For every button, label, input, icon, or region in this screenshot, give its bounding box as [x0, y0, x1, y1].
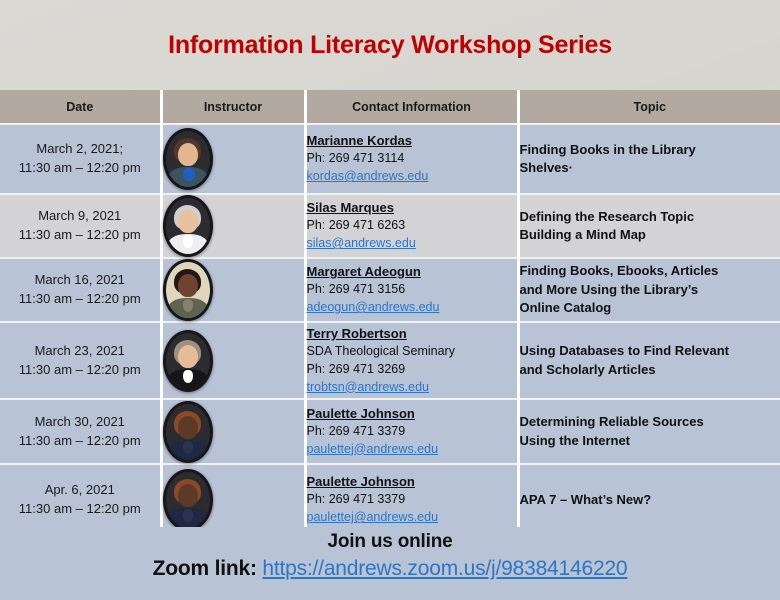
- contact-name: Marianne Kordas: [307, 132, 517, 150]
- date-line-2: 11:30 am – 12:20 pm: [0, 432, 160, 451]
- cell-instructor: [161, 322, 305, 399]
- avatar: [163, 469, 213, 531]
- cell-contact-information: Marianne Kordas Ph: 269 471 3114 kordas@…: [305, 124, 518, 194]
- topic-line-1: Finding Books in the Library: [520, 142, 696, 157]
- contact-email-link[interactable]: silas@andrews.edu: [307, 235, 517, 253]
- cell-date: March 16, 2021 11:30 am – 12:20 pm: [0, 258, 161, 322]
- cell-instructor: [161, 464, 305, 536]
- cell-instructor: [161, 194, 305, 258]
- contact-name: Terry Robertson: [307, 325, 517, 343]
- portrait-face: [178, 345, 198, 368]
- avatar: [163, 330, 213, 392]
- date-line-1: March 30, 2021: [0, 413, 160, 432]
- portrait-collar: [183, 441, 193, 454]
- cell-contact-information: Paulette Johnson Ph: 269 471 3379 paulet…: [305, 399, 518, 464]
- portrait-face: [178, 274, 198, 297]
- contact-email-link[interactable]: kordas@andrews.edu: [307, 168, 517, 186]
- portrait-face: [178, 416, 198, 439]
- table-row: March 2, 2021; 11:30 am – 12:20 pm Maria…: [0, 124, 780, 194]
- cell-topic: Finding Books, Ebooks, Articles and More…: [518, 258, 780, 322]
- column-header-date: Date: [0, 90, 161, 124]
- portrait-face: [178, 210, 198, 233]
- topic-line-1: Finding Books, Ebooks, Articles: [520, 263, 719, 278]
- table-row: March 30, 2021 11:30 am – 12:20 pm Paule…: [0, 399, 780, 464]
- contact-phone: Ph: 269 471 3379: [307, 491, 517, 509]
- date-line-2: 11:30 am – 12:20 pm: [0, 500, 160, 519]
- date-line-1: March 2, 2021;: [0, 140, 160, 159]
- date-line-1: March 23, 2021: [0, 342, 160, 361]
- contact-email-link[interactable]: trobtsn@andrews.edu: [307, 379, 517, 397]
- date-line-2: 11:30 am – 12:20 pm: [0, 290, 160, 309]
- footer-band: Join us online Zoom link: https://andrew…: [0, 527, 780, 600]
- table-header-row: Date Instructor Contact Information Topi…: [0, 90, 780, 124]
- cell-contact-information: Terry Robertson SDA Theological Seminary…: [305, 322, 518, 399]
- portrait-face: [178, 143, 198, 166]
- zoom-meeting-url[interactable]: https://andrews.zoom.us/j/98384146220: [262, 557, 627, 580]
- poster-page: Information Literacy Workshop Series Dat…: [0, 0, 780, 600]
- page-title: Information Literacy Workshop Series: [168, 31, 612, 60]
- cell-contact-information: Paulette Johnson Ph: 269 471 3379 paulet…: [305, 464, 518, 536]
- contact-phone: Ph: 269 471 3269: [307, 361, 517, 379]
- topic-line-2: Shelves·: [520, 160, 573, 175]
- topic-line-1: Determining Reliable Sources: [520, 414, 704, 429]
- zoom-link-label: Zoom link:: [153, 557, 257, 580]
- topic-line-1: APA 7 – What’s New?: [520, 492, 652, 507]
- cell-topic: Using Databases to Find Relevant and Sch…: [518, 322, 780, 399]
- topic-line-2: and More Using the Library’s: [520, 282, 699, 297]
- table-header: Date Instructor Contact Information Topi…: [0, 90, 780, 124]
- cell-date: March 9, 2021 11:30 am – 12:20 pm: [0, 194, 161, 258]
- cell-date: Apr. 6, 2021 11:30 am – 12:20 pm: [0, 464, 161, 536]
- topic-line-2: Using the Internet: [520, 433, 631, 448]
- cell-topic: Defining the Research Topic Building a M…: [518, 194, 780, 258]
- date-line-1: March 16, 2021: [0, 271, 160, 290]
- portrait-collar: [183, 235, 193, 248]
- date-line-2: 11:30 am – 12:20 pm: [0, 361, 160, 380]
- cell-topic: Determining Reliable Sources Using the I…: [518, 399, 780, 464]
- contact-phone: Ph: 269 471 3156: [307, 281, 517, 299]
- portrait-collar: [183, 299, 193, 312]
- cell-topic: Finding Books in the Library Shelves·: [518, 124, 780, 194]
- zoom-link-line: Zoom link: https://andrews.zoom.us/j/983…: [0, 557, 780, 581]
- workshop-schedule-table: Date Instructor Contact Information Topi…: [0, 90, 780, 537]
- table-row: March 16, 2021 11:30 am – 12:20 pm Marga…: [0, 258, 780, 322]
- cell-date: March 23, 2021 11:30 am – 12:20 pm: [0, 322, 161, 399]
- date-line-1: March 9, 2021: [0, 207, 160, 226]
- cell-contact-information: Silas Marques Ph: 269 471 6263 silas@and…: [305, 194, 518, 258]
- contact-name: Paulette Johnson: [307, 405, 517, 423]
- contact-name: Margaret Adeogun: [307, 263, 517, 281]
- cell-date: March 2, 2021; 11:30 am – 12:20 pm: [0, 124, 161, 194]
- topic-line-1: Using Databases to Find Relevant: [520, 343, 730, 358]
- portrait-face: [178, 484, 198, 507]
- portrait-collar: [183, 370, 193, 383]
- contact-phone: Ph: 269 471 3114: [307, 150, 517, 168]
- avatar: [163, 259, 213, 321]
- contact-email-link[interactable]: paulettej@andrews.edu: [307, 441, 517, 459]
- contact-organization: SDA Theological Seminary: [307, 343, 517, 361]
- column-header-instructor: Instructor: [161, 90, 305, 124]
- contact-email-link[interactable]: adeogun@andrews.edu: [307, 299, 517, 317]
- contact-name: Silas Marques: [307, 199, 517, 217]
- topic-line-1: Defining the Research Topic: [520, 209, 695, 224]
- join-us-text: Join us online: [0, 531, 780, 553]
- table-body: March 2, 2021; 11:30 am – 12:20 pm Maria…: [0, 124, 780, 536]
- cell-instructor: [161, 258, 305, 322]
- title-bar: Information Literacy Workshop Series: [0, 0, 780, 90]
- column-header-topic: Topic: [518, 90, 780, 124]
- contact-phone: Ph: 269 471 6263: [307, 217, 517, 235]
- date-line-2: 11:30 am – 12:20 pm: [0, 159, 160, 178]
- cell-instructor: [161, 124, 305, 194]
- table-row: March 23, 2021 11:30 am – 12:20 pm Terry…: [0, 322, 780, 399]
- column-header-contact-information: Contact Information: [305, 90, 518, 124]
- contact-name: Paulette Johnson: [307, 473, 517, 491]
- cell-contact-information: Margaret Adeogun Ph: 269 471 3156 adeogu…: [305, 258, 518, 322]
- table-row: March 9, 2021 11:30 am – 12:20 pm Silas …: [0, 194, 780, 258]
- avatar: [163, 195, 213, 257]
- portrait-collar: [183, 509, 193, 522]
- portrait-collar: [183, 168, 195, 181]
- cell-topic: APA 7 – What’s New?: [518, 464, 780, 536]
- topic-line-2: Building a Mind Map: [520, 227, 646, 242]
- contact-email-link[interactable]: paulettej@andrews.edu: [307, 509, 517, 527]
- cell-date: March 30, 2021 11:30 am – 12:20 pm: [0, 399, 161, 464]
- contact-phone: Ph: 269 471 3379: [307, 423, 517, 441]
- date-line-1: Apr. 6, 2021: [0, 481, 160, 500]
- topic-line-2: and Scholarly Articles: [520, 362, 656, 377]
- table-row: Apr. 6, 2021 11:30 am – 12:20 pm Paulett…: [0, 464, 780, 536]
- avatar: [163, 128, 213, 190]
- date-line-2: 11:30 am – 12:20 pm: [0, 226, 160, 245]
- topic-line-3: Online Catalog: [520, 300, 612, 315]
- avatar: [163, 401, 213, 463]
- cell-instructor: [161, 399, 305, 464]
